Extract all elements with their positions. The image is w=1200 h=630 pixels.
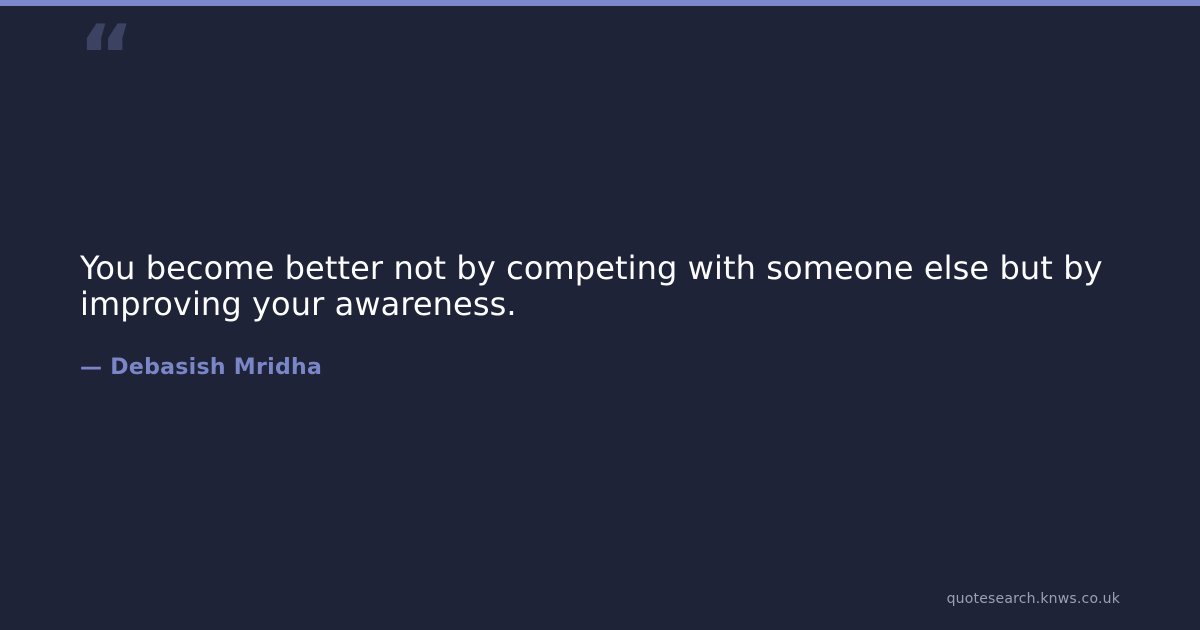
attribution-dash: — bbox=[80, 355, 102, 380]
quote-content: You become better not by competing with … bbox=[80, 0, 1120, 630]
author-name[interactable]: Debasish Mridha bbox=[110, 355, 322, 380]
quote-text: You become better not by competing with … bbox=[80, 250, 1120, 322]
quote-card: “ You become better not by competing wit… bbox=[0, 0, 1200, 630]
site-watermark: quotesearch.knws.co.uk bbox=[947, 590, 1120, 608]
quote-attribution: — Debasish Mridha bbox=[80, 322, 1120, 381]
